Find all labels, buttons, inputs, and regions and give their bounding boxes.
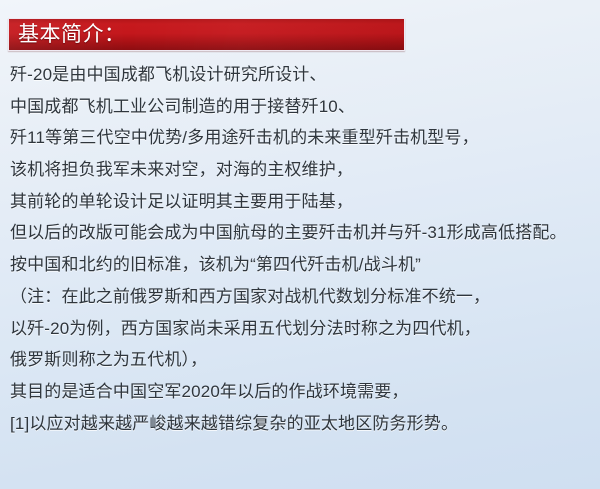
body-text-line: [1]以应对越来越严峻越来越错综复杂的亚太地区防务形势。 xyxy=(10,408,595,440)
body-text-line: 其目的是适合中国空军2020年以后的作战环境需要， xyxy=(10,376,595,408)
body-text-line: 歼11等第三代空中优势/多用途歼击机的未来重型歼击机型号， xyxy=(10,122,595,154)
body-text-line: 以歼-20为例，西方国家尚未采用五代划分法时称之为四代机， xyxy=(10,313,595,345)
body-text-line: 按中国和北约的旧标准，该机为“第四代歼击机/战斗机” xyxy=(10,249,595,281)
body-text-line: （注：在此之前俄罗斯和西方国家对战机代数划分标准不统一， xyxy=(10,281,595,313)
body-text-line: 但以后的改版可能会成为中国航母的主要歼击机并与歼-31形成高低搭配。 xyxy=(10,217,595,249)
section-title-text: 基本简介： xyxy=(18,24,126,45)
body-text-line: 歼-20是由中国成都飞机设计研究所设计、 xyxy=(10,59,595,91)
body-text-line: 该机将担负我军未来对空，对海的主权维护， xyxy=(10,154,595,186)
presentation-slide: 基本简介： 歼-20是由中国成都飞机设计研究所设计、中国成都飞机工业公司制造的用… xyxy=(0,0,600,489)
body-text-line: 俄罗斯则称之为五代机）， xyxy=(10,344,595,376)
body-text-line: 其前轮的单轮设计足以证明其主要用于陆基， xyxy=(10,186,595,218)
section-title-banner: 基本简介： xyxy=(8,18,405,51)
body-text-line: 中国成都飞机工业公司制造的用于接替歼10、 xyxy=(10,91,595,123)
body-text-block: 歼-20是由中国成都飞机设计研究所设计、中国成都飞机工业公司制造的用于接替歼10… xyxy=(10,59,595,439)
